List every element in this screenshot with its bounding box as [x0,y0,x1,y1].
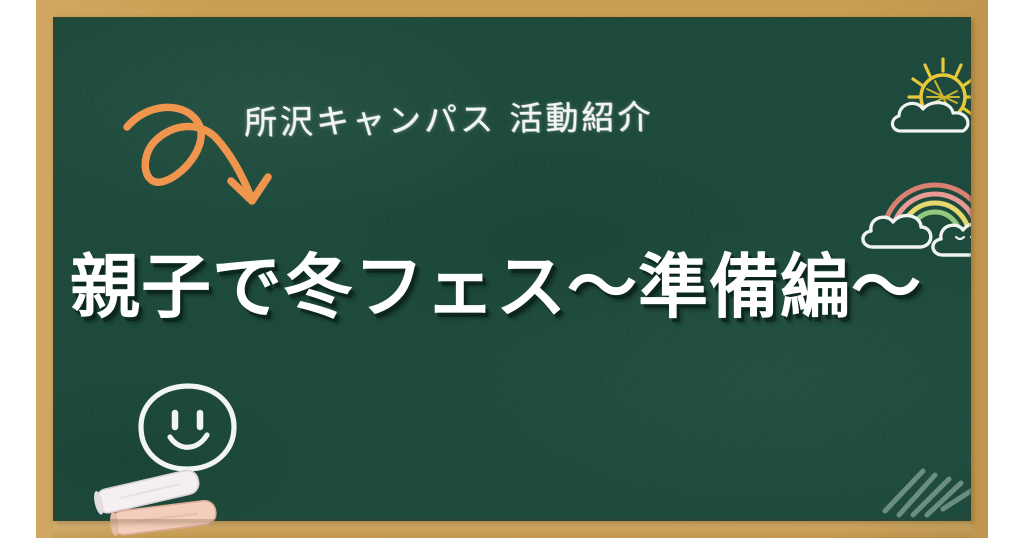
chalk-sticks-icon [86,462,231,538]
poster-headline: 親子で冬フェス〜準備編〜 [70,252,950,322]
eraser-smudge-icon [865,457,971,521]
sun-cloud-icon [881,55,971,150]
poster-subtitle: 所沢キャンパス 活動紹介 [244,88,825,144]
poster-canvas: 所沢キャンパス 活動紹介 親子で冬フェス〜準備編〜 [0,0,1024,538]
